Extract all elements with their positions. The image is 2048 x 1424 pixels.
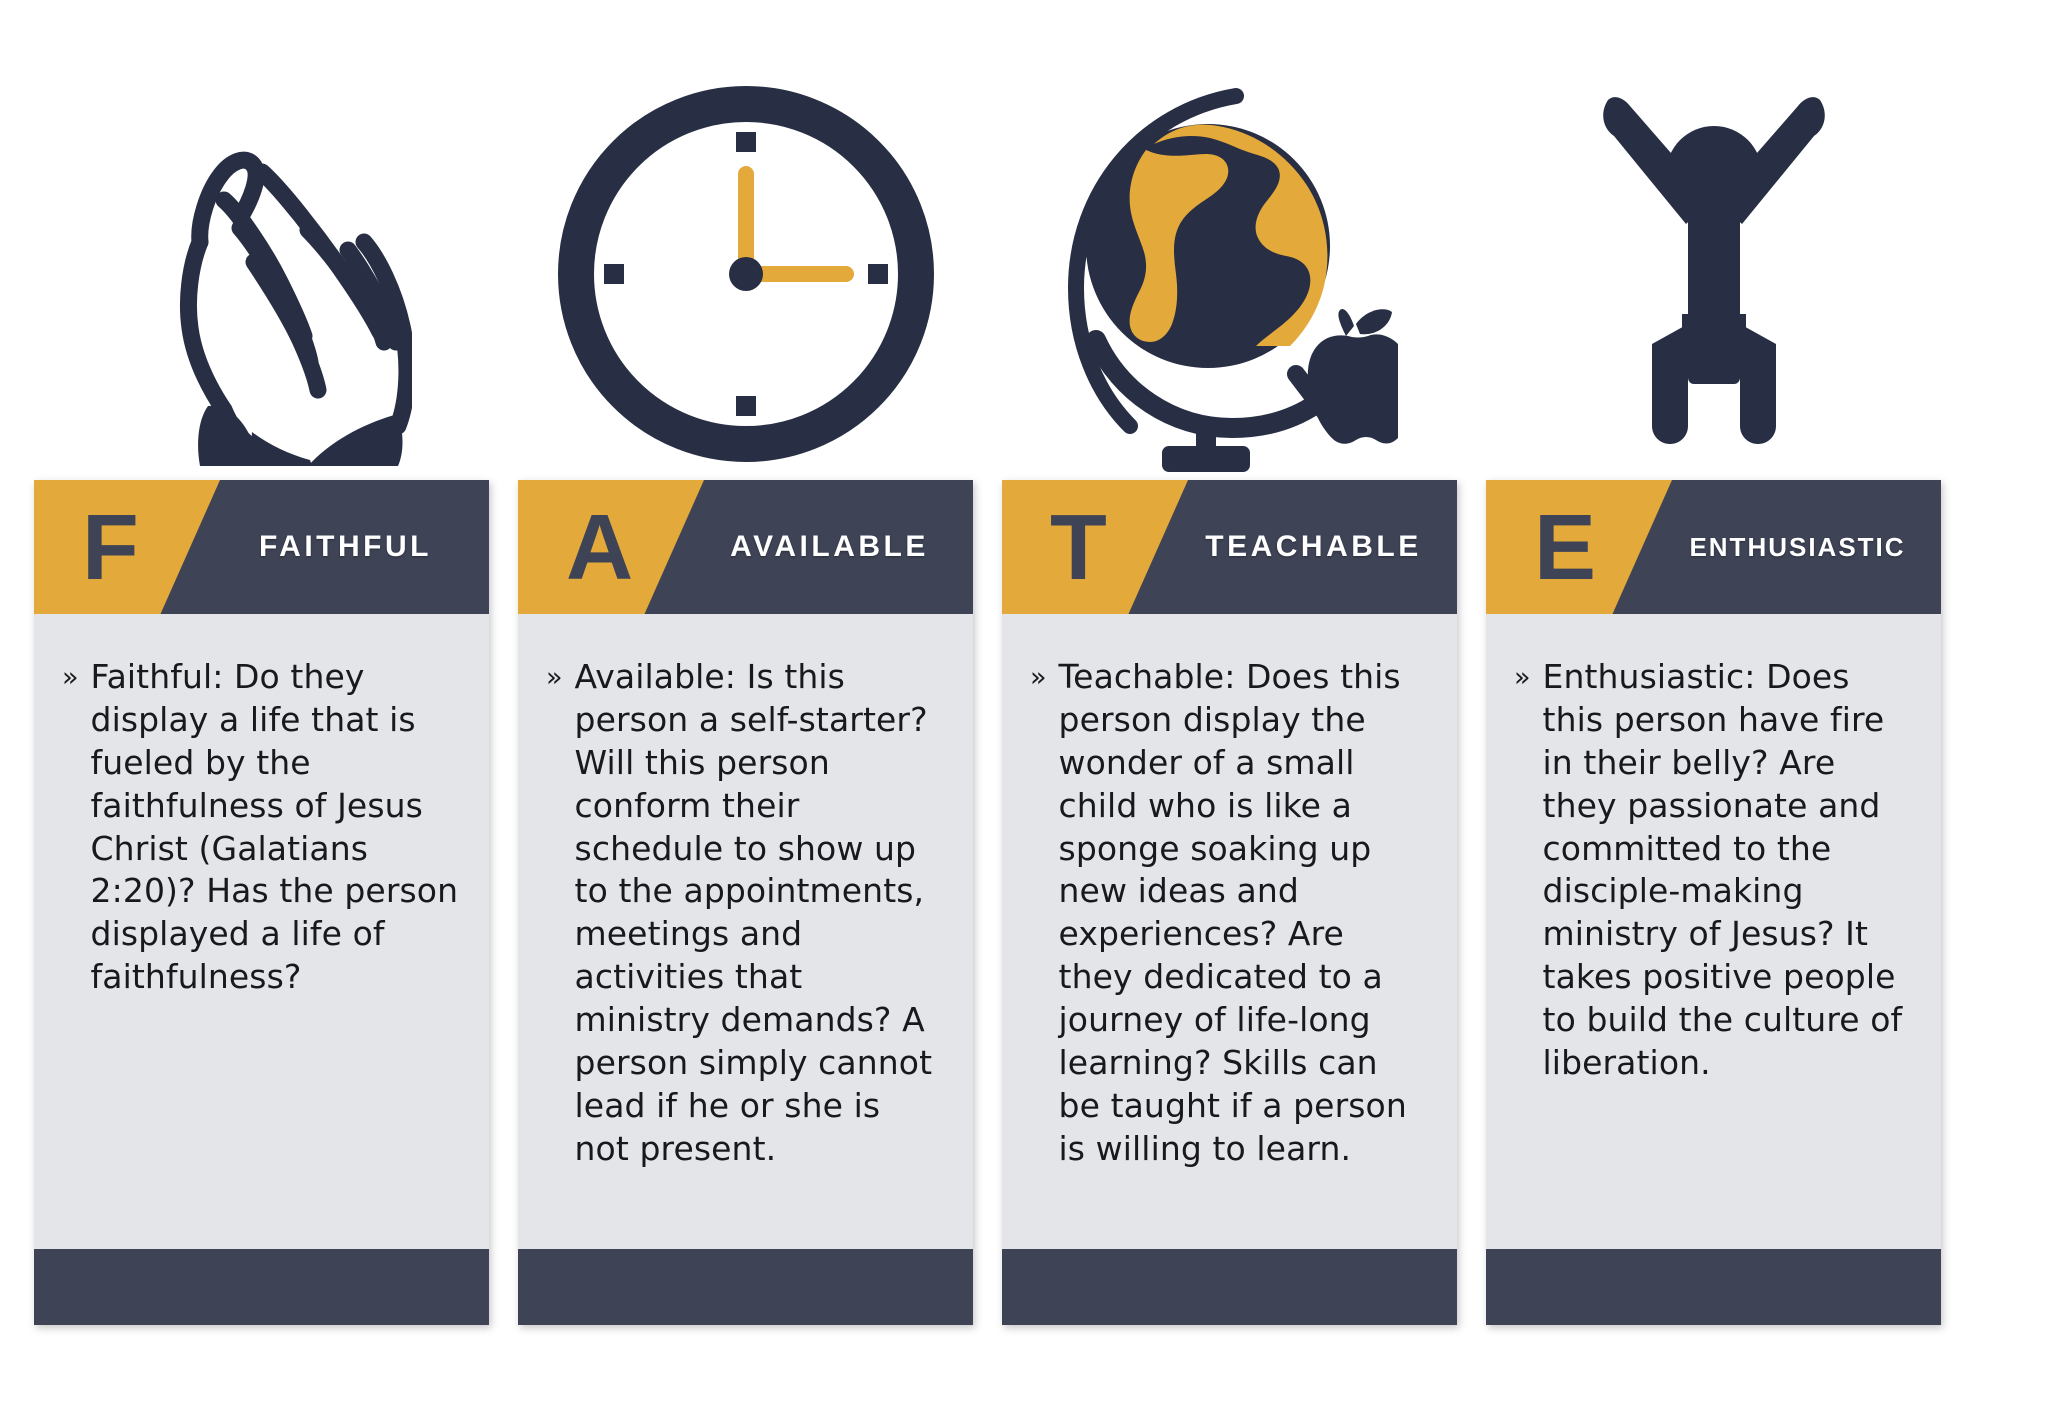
header-letter: T	[1002, 501, 1188, 594]
icon-zone-faithful	[34, 0, 489, 480]
card-body-enthusiastic: » Enthusiastic: Does this person have fi…	[1486, 614, 1941, 1249]
bullet-marker-icon: »	[62, 656, 79, 691]
body-text: Teachable: Does this person display the …	[1059, 656, 1427, 1171]
card-header-teachable: T TEACHABLE	[1002, 480, 1457, 614]
column-faithful: F FAITHFUL » Faithful: Do they display a…	[34, 0, 489, 1424]
cheering-person-icon	[1564, 74, 1864, 474]
card-header-available: A AVAILABLE	[518, 480, 973, 614]
header-letter: F	[34, 501, 220, 594]
bullet-row: » Enthusiastic: Does this person have fi…	[1514, 656, 1911, 1085]
card-teachable: T TEACHABLE » Teachable: Does this perso…	[1002, 480, 1457, 1325]
column-teachable: T TEACHABLE » Teachable: Does this perso…	[1002, 0, 1457, 1424]
body-text: Faithful: Do they display a life that is…	[91, 656, 459, 999]
bullet-row: » Faithful: Do they display a life that …	[62, 656, 459, 999]
header-label: AVAILABLE	[704, 530, 973, 564]
card-header-faithful: F FAITHFUL	[34, 480, 489, 614]
body-text: Available: Is this person a self-starter…	[575, 656, 943, 1171]
card-enthusiastic: E ENTHUSIASTIC » Enthusiastic: Does this…	[1486, 480, 1941, 1325]
header-letter: A	[518, 501, 704, 594]
bullet-row: » Available: Is this person a self-start…	[546, 656, 943, 1171]
card-available: A AVAILABLE » Available: Is this person …	[518, 480, 973, 1325]
header-label: TEACHABLE	[1188, 530, 1457, 564]
card-footer-enthusiastic	[1486, 1249, 1941, 1325]
card-body-teachable: » Teachable: Does this person display th…	[1002, 614, 1457, 1249]
globe-book-apple-icon	[1060, 74, 1400, 474]
icon-zone-available	[518, 0, 973, 480]
column-available: A AVAILABLE » Available: Is this person …	[518, 0, 973, 1424]
icon-zone-teachable	[1002, 0, 1457, 480]
icon-zone-enthusiastic	[1486, 0, 1941, 480]
bullet-marker-icon: »	[1514, 656, 1531, 691]
card-faithful: F FAITHFUL » Faithful: Do they display a…	[34, 480, 489, 1325]
header-letter: E	[1486, 501, 1672, 594]
card-body-available: » Available: Is this person a self-start…	[518, 614, 973, 1249]
card-body-faithful: » Faithful: Do they display a life that …	[34, 614, 489, 1249]
bullet-row: » Teachable: Does this person display th…	[1030, 656, 1427, 1171]
columns-container: F FAITHFUL » Faithful: Do they display a…	[0, 0, 2048, 1424]
header-label: ENTHUSIASTIC	[1672, 532, 1941, 563]
bullet-marker-icon: »	[1030, 656, 1047, 691]
header-label: FAITHFUL	[220, 530, 489, 564]
column-enthusiastic: E ENTHUSIASTIC » Enthusiastic: Does this…	[1486, 0, 1941, 1424]
clock-icon	[546, 74, 946, 474]
body-text: Enthusiastic: Does this person have fire…	[1543, 656, 1911, 1085]
card-footer-available	[518, 1249, 973, 1325]
bullet-marker-icon: »	[546, 656, 563, 691]
card-header-enthusiastic: E ENTHUSIASTIC	[1486, 480, 1941, 614]
fate-infographic: F FAITHFUL » Faithful: Do they display a…	[0, 0, 2048, 1424]
card-footer-faithful	[34, 1249, 489, 1325]
card-footer-teachable	[1002, 1249, 1457, 1325]
praying-hands-icon	[112, 114, 412, 474]
